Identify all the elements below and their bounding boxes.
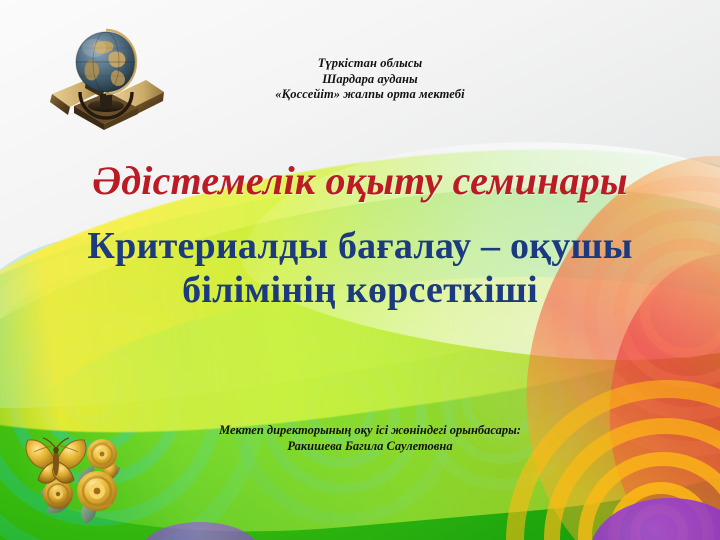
presenter-info: Мектеп директорының оқу ісі жөніндегі ор… — [160, 422, 580, 454]
event-title: Әдістемелік оқыту семинары — [0, 158, 720, 204]
header-line-region: Түркістан облысы — [210, 56, 530, 72]
main-title-line-2: білімінің көрсеткіші — [0, 268, 720, 312]
main-title-line-1: Критериалды бағалау – оқушы — [87, 225, 632, 267]
main-title: Критериалды бағалау – оқушы білімінің кө… — [0, 224, 720, 312]
presenter-role: Мектеп директорының оқу ісі жөніндегі ор… — [160, 422, 580, 438]
presentation-slide: Түркістан облысы Шардара ауданы «Қоссейі… — [0, 0, 720, 540]
header-line-district: Шардара ауданы — [210, 72, 530, 88]
globe-on-books-icon — [46, 8, 166, 130]
header-line-school: «Қоссейіт» жалпы орта мектебі — [210, 87, 530, 103]
butterfly-and-roses-icon — [22, 424, 134, 528]
school-header: Түркістан облысы Шардара ауданы «Қоссейі… — [210, 56, 530, 103]
presenter-name: Ракишева Багила Саулетовна — [160, 438, 580, 454]
